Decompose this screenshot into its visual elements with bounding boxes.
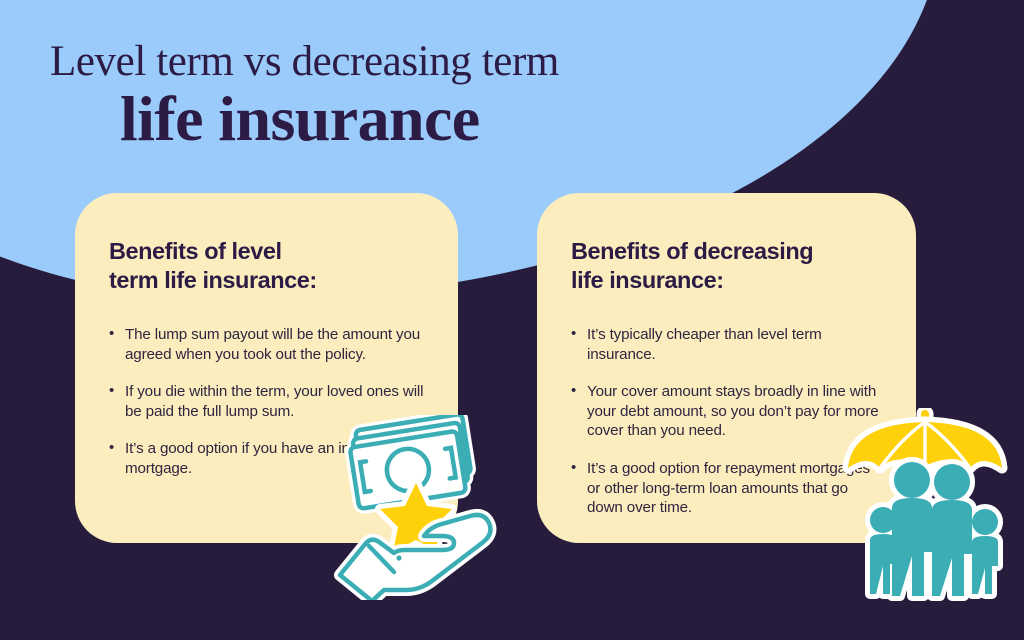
card-heading-level-term: Benefits of level term life insurance:: [109, 237, 428, 295]
list-item: It’s typically cheaper than level term i…: [571, 325, 886, 364]
list-item: It’s a good option for repayment mortgag…: [571, 459, 886, 518]
hand-holding-money-icon: [332, 415, 512, 600]
page-title: Level term vs decreasing term life insur…: [50, 38, 559, 154]
family-under-umbrella-icon: [842, 408, 1024, 608]
title-line-1: Level term vs decreasing term: [50, 38, 559, 86]
infographic-canvas: Level term vs decreasing term life insur…: [0, 0, 1024, 640]
title-line-2: life insurance: [120, 84, 559, 154]
card-heading-decreasing: Benefits of decreasing life insurance:: [571, 237, 886, 295]
list-item: Your cover amount stays broadly in line …: [571, 382, 886, 441]
benefits-list-decreasing: It’s typically cheaper than level term i…: [571, 325, 886, 518]
list-item: The lump sum payout will be the amount y…: [109, 325, 428, 364]
